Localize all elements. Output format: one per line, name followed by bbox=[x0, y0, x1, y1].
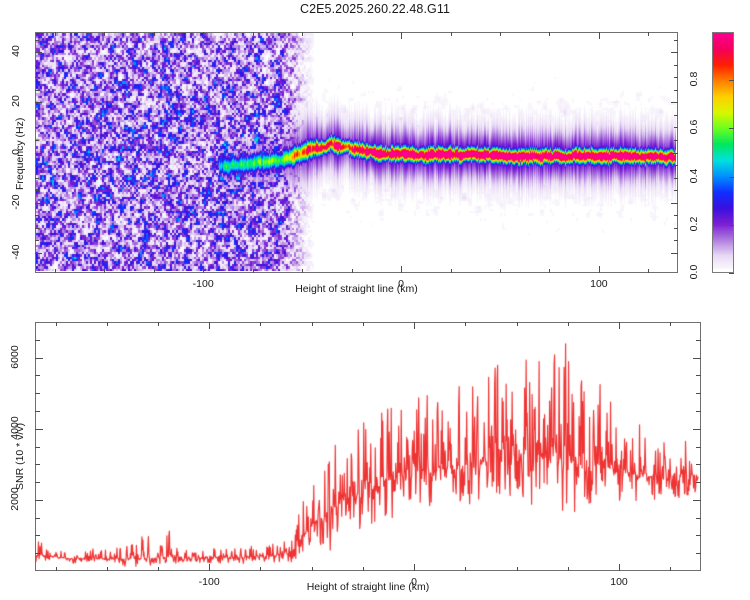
snr-xtick-minor-top bbox=[158, 322, 159, 326]
snr-xtick-top bbox=[619, 322, 620, 329]
spectrogram-xtick-minor bbox=[500, 269, 501, 273]
spectrogram-ytick-label: 20 bbox=[10, 86, 22, 116]
snr-xtick-label: 100 bbox=[601, 576, 637, 588]
spectrogram-ytick-minor-right bbox=[674, 40, 678, 41]
spectrogram-xtick-minor-top bbox=[500, 32, 501, 36]
snr-xtick-minor bbox=[56, 567, 57, 571]
snr-ytick-right bbox=[693, 429, 701, 430]
colorbar-tick-label: 0.2 bbox=[688, 208, 700, 240]
spectrogram-xtick-minor-top bbox=[104, 32, 105, 36]
snr-xtick-minor bbox=[517, 567, 518, 571]
spectrogram-ytick bbox=[35, 203, 42, 204]
snr-ytick-minor bbox=[35, 535, 40, 536]
snr-xtick bbox=[209, 564, 210, 571]
spectrogram-xtick-label: 100 bbox=[581, 278, 617, 290]
spectrogram-xtick-minor-top bbox=[352, 32, 353, 36]
snr-xtick-minor bbox=[312, 567, 313, 571]
spectrogram-xtick-minor-top bbox=[55, 32, 56, 36]
colorbar-tick bbox=[729, 273, 734, 274]
snr-xtick-minor-top bbox=[260, 322, 261, 326]
spectrogram-ytick-right bbox=[671, 203, 678, 204]
snr-ytick-minor bbox=[35, 518, 40, 519]
snr-xtick-minor-top bbox=[107, 322, 108, 326]
snr-ytick bbox=[35, 500, 43, 501]
snr-xtick-minor-top bbox=[670, 322, 671, 326]
snr-ytick-minor bbox=[35, 411, 40, 412]
spectrogram-xtick-minor bbox=[302, 269, 303, 273]
snr-xtick-minor bbox=[670, 567, 671, 571]
spectrogram-ytick-minor-right bbox=[674, 115, 678, 116]
spectrogram-ytick-minor-right bbox=[674, 178, 678, 179]
spectrogram-xtick-minor-top bbox=[451, 32, 452, 36]
spectrogram-ytick-minor bbox=[35, 40, 39, 41]
spectrogram-ytick-minor-right bbox=[674, 190, 678, 191]
spectrogram-ytick-minor-right bbox=[674, 90, 678, 91]
spectrogram-ytick-minor-right bbox=[674, 240, 678, 241]
colorbar-tick bbox=[729, 80, 734, 81]
snr-xtick-top bbox=[414, 322, 415, 329]
spectrogram-ytick-minor bbox=[35, 140, 39, 141]
snr-xtick-label: 0 bbox=[396, 576, 432, 588]
spectrogram-ytick bbox=[35, 253, 42, 254]
spectrogram-xtick-minor-top bbox=[253, 32, 254, 36]
spectrogram-ytick-minor bbox=[35, 90, 39, 91]
spectrogram-ytick-right bbox=[671, 253, 678, 254]
spectrogram-xtick-minor-top bbox=[549, 32, 550, 36]
snr-xtick-minor bbox=[158, 567, 159, 571]
snr-ytick-minor-right bbox=[696, 482, 701, 483]
spectrogram-ytick-label: -40 bbox=[10, 237, 22, 267]
spectrogram-ytick-minor-right bbox=[674, 215, 678, 216]
snr-ytick-minor-right bbox=[696, 553, 701, 554]
spectrogram-ytick bbox=[35, 102, 42, 103]
snr-ytick-label: 4000 bbox=[9, 408, 21, 448]
spectrogram-ytick-minor-right bbox=[674, 228, 678, 229]
snr-xtick-minor-top bbox=[56, 322, 57, 326]
spectrogram-xtick-top bbox=[203, 32, 204, 39]
snr-ytick-minor bbox=[35, 482, 40, 483]
snr-ytick-minor bbox=[35, 375, 40, 376]
snr-xtick-minor-top bbox=[517, 322, 518, 326]
spectrogram-xtick-label: -100 bbox=[185, 278, 221, 290]
snr-ytick bbox=[35, 358, 43, 359]
snr-xtick-minor-top bbox=[568, 322, 569, 326]
snr-xtick-minor bbox=[363, 567, 364, 571]
snr-ytick-minor-right bbox=[696, 411, 701, 412]
snr-ytick bbox=[35, 429, 43, 430]
spectrogram-ytick-minor bbox=[35, 178, 39, 179]
spectrogram-ytick-right bbox=[671, 153, 678, 154]
figure-root: C2E5.2025.260.22.48.G11 Frequency (Hz) H… bbox=[0, 0, 750, 600]
page-title: C2E5.2025.260.22.48.G11 bbox=[0, 2, 750, 16]
snr-ytick-minor bbox=[35, 393, 40, 394]
snr-xtick-top bbox=[209, 322, 210, 329]
spectrogram-ytick-minor bbox=[35, 240, 39, 241]
snr-ytick-label: 2000 bbox=[9, 479, 21, 519]
snr-ytick-right bbox=[693, 500, 701, 501]
snr-ytick-label: 6000 bbox=[9, 337, 21, 377]
snr-panel bbox=[35, 322, 701, 571]
snr-ytick-minor bbox=[35, 340, 40, 341]
spectrogram-ytick-label: 40 bbox=[10, 36, 22, 66]
spectrogram-ytick-minor-right bbox=[674, 77, 678, 78]
spectrogram-ytick-minor bbox=[35, 228, 39, 229]
spectrogram-xtick-minor bbox=[451, 269, 452, 273]
colorbar-gradient bbox=[713, 33, 733, 272]
snr-xtick-minor-top bbox=[363, 322, 364, 326]
spectrogram-ytick-minor bbox=[35, 215, 39, 216]
spectrogram-ytick-minor bbox=[35, 190, 39, 191]
colorbar-tick-label: 0.4 bbox=[688, 160, 700, 192]
spectrogram-xtick-minor bbox=[549, 269, 550, 273]
spectrogram-ytick-minor-right bbox=[674, 140, 678, 141]
snr-ytick-minor-right bbox=[696, 518, 701, 519]
spectrogram-xtick bbox=[599, 266, 600, 273]
spectrogram-ytick-right bbox=[671, 102, 678, 103]
snr-ytick-minor-right bbox=[696, 535, 701, 536]
snr-ytick-minor-right bbox=[696, 447, 701, 448]
spectrogram-ytick-right bbox=[671, 52, 678, 53]
spectrogram-xtick-top bbox=[401, 32, 402, 39]
spectrogram-panel bbox=[35, 32, 678, 273]
snr-xtick-minor bbox=[107, 567, 108, 571]
colorbar-tick-label: 0.0 bbox=[688, 256, 700, 288]
colorbar-tick bbox=[729, 128, 734, 129]
colorbar-tick bbox=[729, 177, 734, 178]
spectrogram-xtick-minor-top bbox=[154, 32, 155, 36]
snr-xtick-label: -100 bbox=[191, 576, 227, 588]
spectrogram-ytick-minor bbox=[35, 65, 39, 66]
spectrogram-xtick-top bbox=[599, 32, 600, 39]
snr-ytick-minor bbox=[35, 447, 40, 448]
spectrogram-xtick-minor bbox=[55, 269, 56, 273]
snr-canvas bbox=[36, 323, 699, 569]
spectrogram-ytick bbox=[35, 153, 42, 154]
spectrogram-ytick-label: 0 bbox=[10, 137, 22, 167]
spectrogram-xtick-minor-top bbox=[648, 32, 649, 36]
snr-xtick-minor-top bbox=[312, 322, 313, 326]
colorbar-tick-label: 0.6 bbox=[688, 111, 700, 143]
snr-xtick-minor bbox=[260, 567, 261, 571]
snr-xtick-minor bbox=[465, 567, 466, 571]
snr-ytick-minor bbox=[35, 553, 40, 554]
snr-xtick-minor-top bbox=[465, 322, 466, 326]
snr-xtick bbox=[414, 564, 415, 571]
snr-ytick-right bbox=[693, 358, 701, 359]
spectrogram-xtick-label: 0 bbox=[383, 278, 419, 290]
colorbar-tick-label: 0.8 bbox=[688, 63, 700, 95]
snr-ytick-minor-right bbox=[696, 340, 701, 341]
colorbar-tick bbox=[729, 225, 734, 226]
snr-ytick-minor-right bbox=[696, 393, 701, 394]
snr-xtick bbox=[619, 564, 620, 571]
colorbar bbox=[712, 32, 734, 273]
spectrogram-ytick-minor-right bbox=[674, 65, 678, 66]
spectrogram-ytick-minor bbox=[35, 115, 39, 116]
snr-xtick-minor bbox=[568, 567, 569, 571]
snr-ytick-minor bbox=[35, 464, 40, 465]
spectrogram-ytick-label: -20 bbox=[10, 187, 22, 217]
spectrogram-xtick bbox=[401, 266, 402, 273]
spectrogram-xtick-minor bbox=[253, 269, 254, 273]
snr-ytick-minor-right bbox=[696, 464, 701, 465]
spectrogram-ytick-minor bbox=[35, 77, 39, 78]
spectrogram-ytick-minor bbox=[35, 165, 39, 166]
snr-ytick-minor-right bbox=[696, 375, 701, 376]
spectrogram-xtick-minor bbox=[352, 269, 353, 273]
spectrogram-xtick-minor bbox=[104, 269, 105, 273]
spectrogram-canvas bbox=[36, 33, 676, 271]
spectrogram-xtick-minor bbox=[154, 269, 155, 273]
spectrogram-ytick bbox=[35, 52, 42, 53]
spectrogram-ytick-minor-right bbox=[674, 165, 678, 166]
spectrogram-xtick-minor-top bbox=[302, 32, 303, 36]
spectrogram-xtick bbox=[203, 266, 204, 273]
spectrogram-xtick-minor bbox=[648, 269, 649, 273]
spectrogram-ytick-minor-right bbox=[674, 127, 678, 128]
spectrogram-ytick-minor bbox=[35, 127, 39, 128]
